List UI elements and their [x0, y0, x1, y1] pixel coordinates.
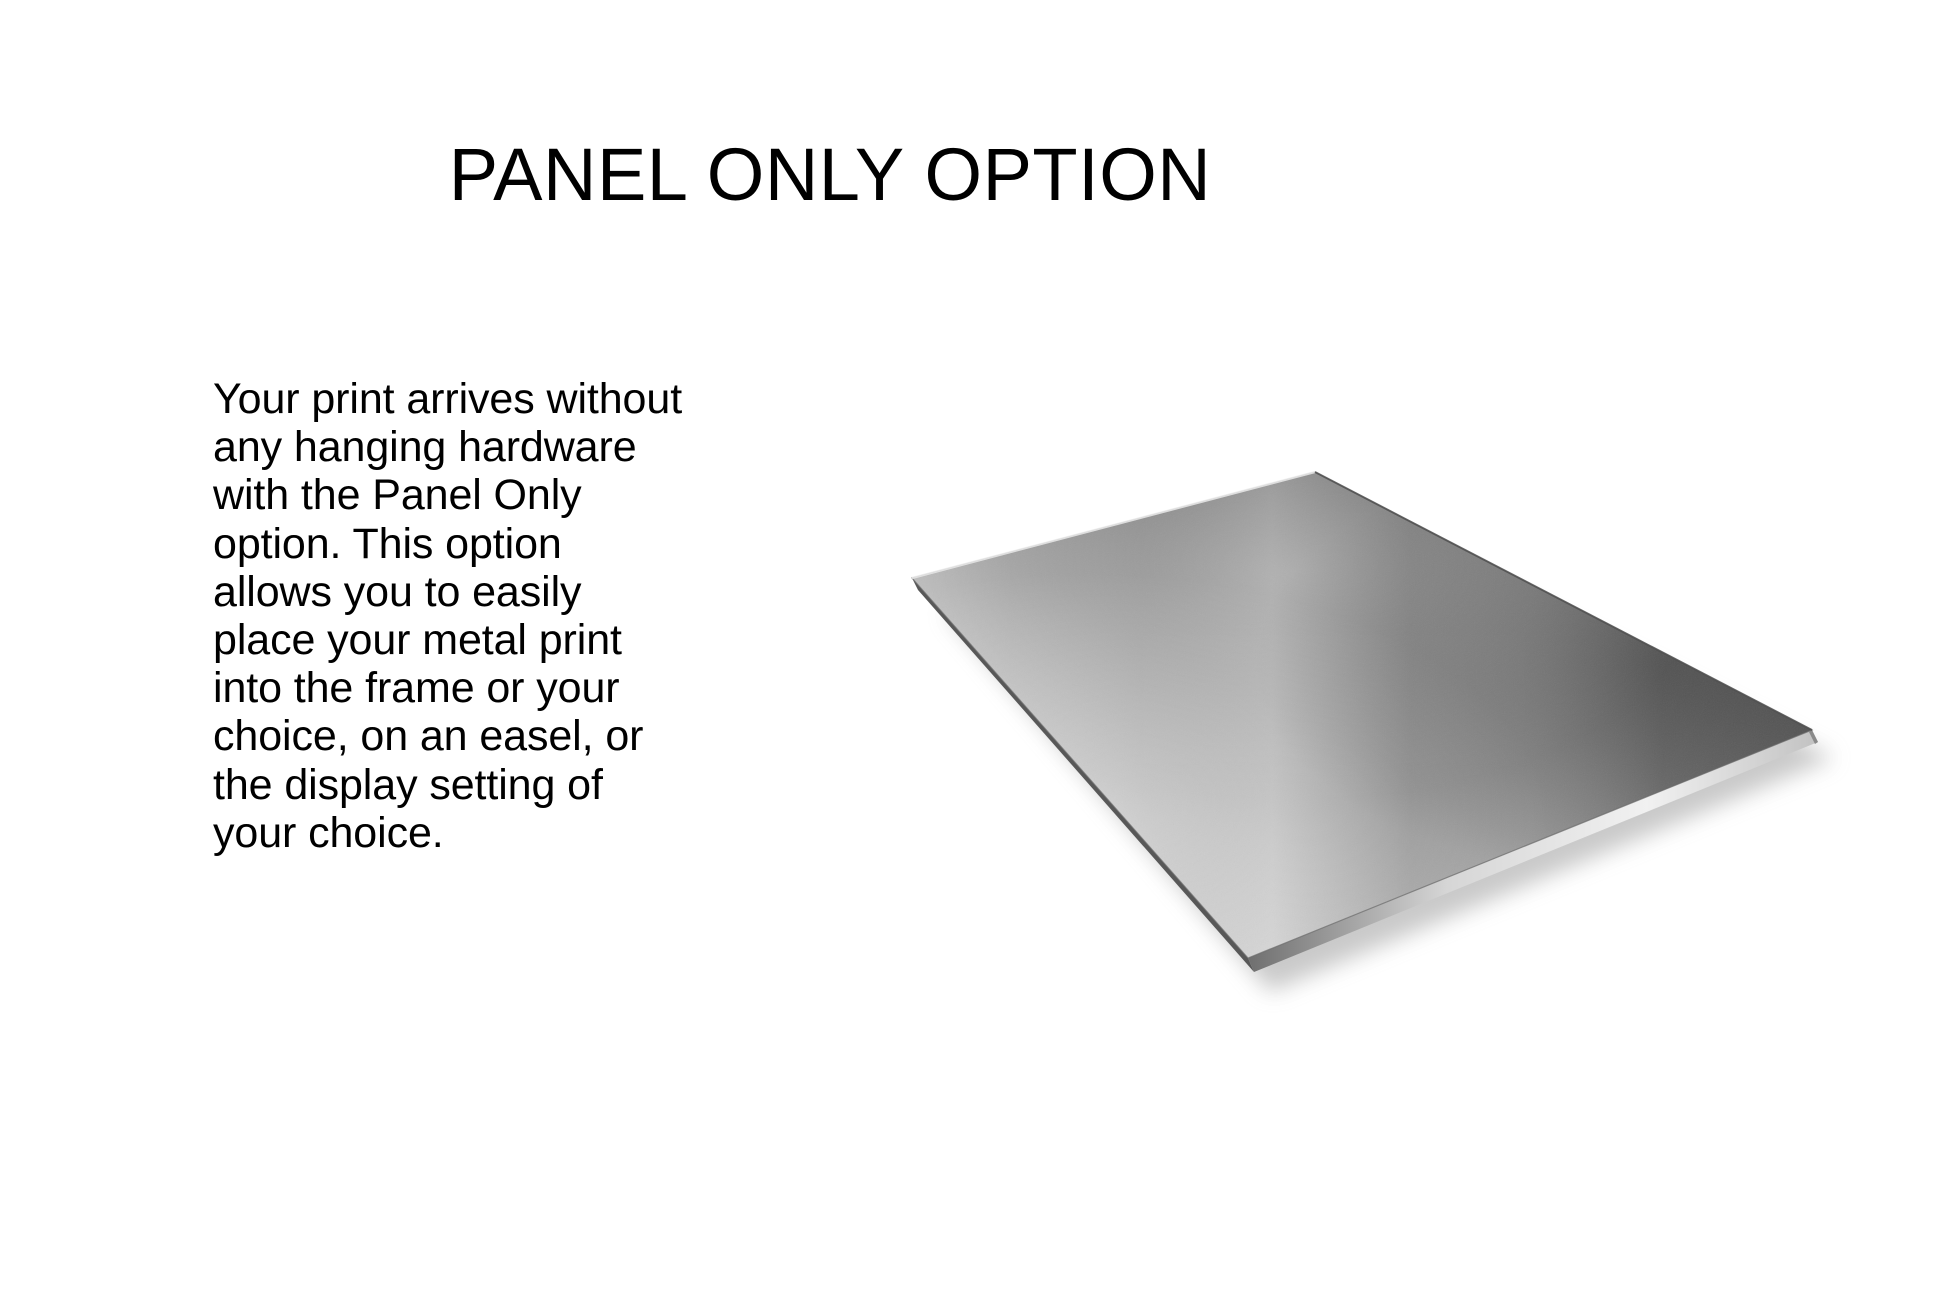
panel-top-face	[900, 460, 1830, 970]
metal-panel-figure	[840, 400, 1900, 1040]
slide-canvas: PANEL ONLY OPTION Your print arrives wit…	[0, 0, 1946, 1297]
page-title: PANEL ONLY OPTION	[0, 138, 1660, 212]
metal-panel-illustration	[840, 400, 1900, 1040]
body-paragraph: Your print arrives without any hanging h…	[213, 375, 683, 857]
